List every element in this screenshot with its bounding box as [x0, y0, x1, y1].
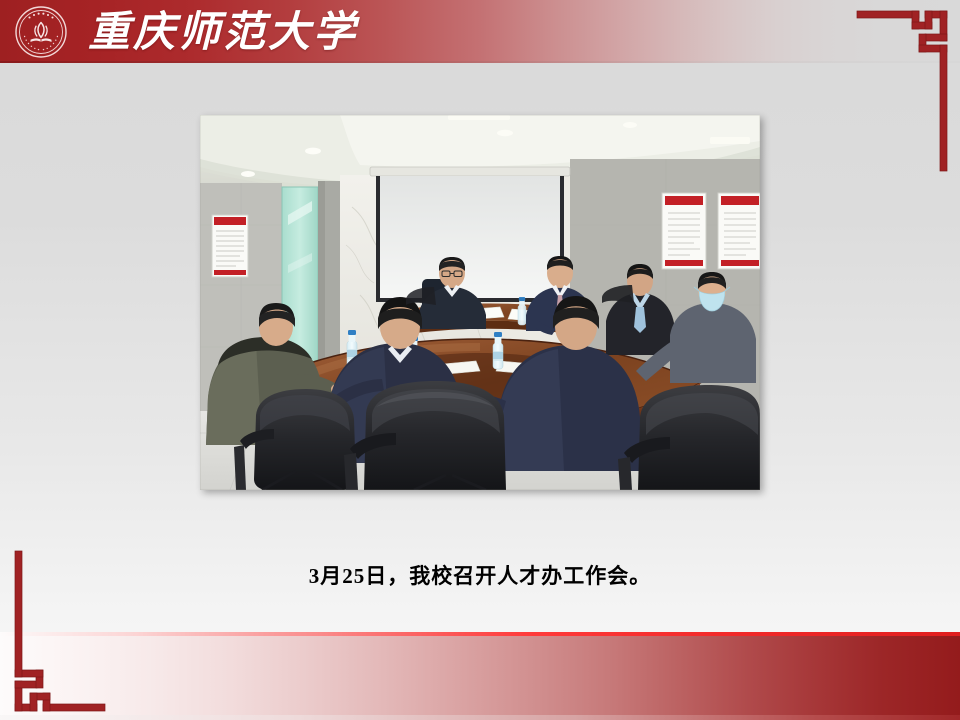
meeting-photo — [200, 115, 760, 490]
footer-band — [0, 632, 960, 720]
chinese-corner-ornament-icon — [10, 550, 106, 712]
presentation-slide: 重庆师范大学 — [0, 0, 960, 720]
photo-caption: 3月25日，我校召开人才办工作会。 — [0, 560, 960, 590]
university-seal-icon — [15, 6, 67, 58]
chinese-corner-ornament-icon — [856, 10, 952, 172]
university-title: 重庆师范大学 — [88, 8, 358, 58]
